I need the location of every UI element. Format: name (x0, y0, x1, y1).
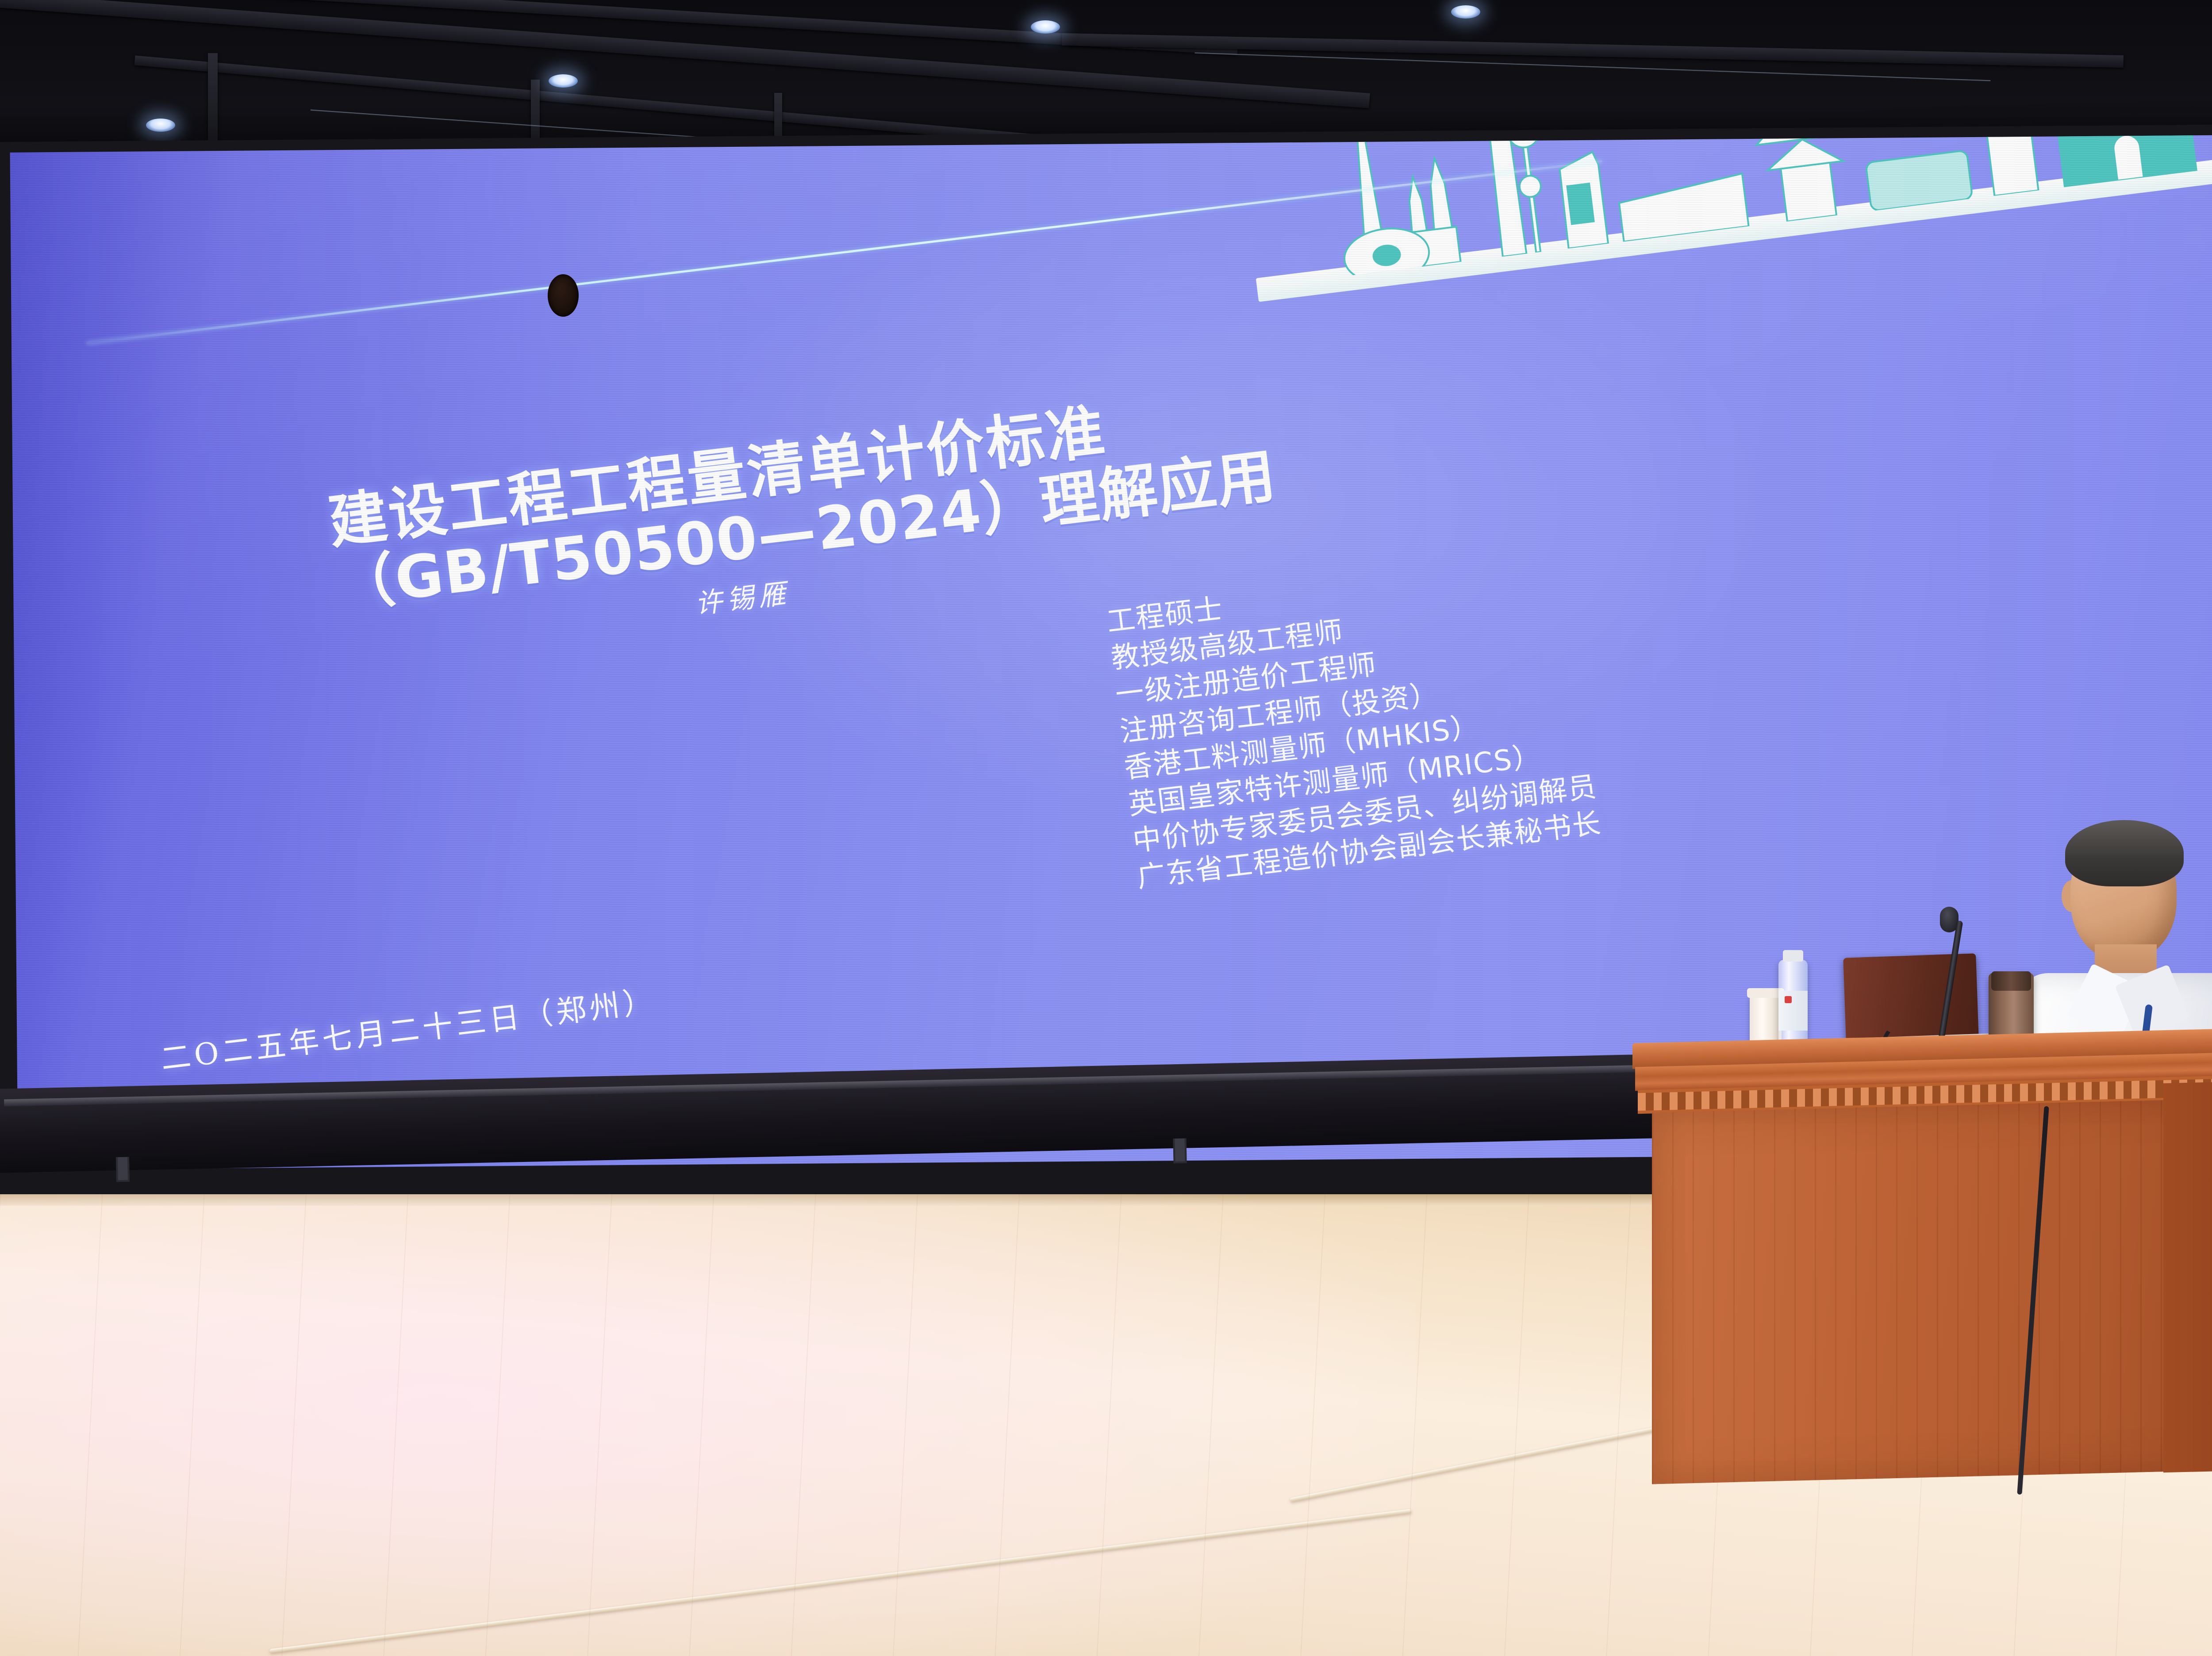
screenshot-root: 建设工程工程量清单计价标准 （GB/T50500—2024）理解应用 许锡雁 工… (0, 0, 2212, 1656)
hair (2065, 820, 2184, 886)
thermos-cap (1991, 971, 2031, 991)
ceiling-post (208, 53, 218, 155)
ceiling-spotlight (1031, 20, 1060, 34)
stage-light-wash (0, 1194, 1416, 1656)
presenter-name: 许锡雁 (692, 571, 792, 621)
screen-support-foot (116, 1157, 130, 1182)
bottle-label (1778, 991, 1808, 1031)
lectern-side-panel (2163, 1080, 2212, 1472)
bottle-cap (1783, 950, 1803, 962)
slide-date-location: 二O二五年七月二十三日（郑州） (158, 976, 659, 1078)
lectern-body (1652, 1097, 2212, 1484)
ceiling-spotlight (146, 119, 175, 132)
credentials-list: 工程硕士 教授级高级工程师 一级注册造价工程师 注册咨询工程师（投资） 香港工料… (1105, 549, 1603, 897)
ceiling-spotlight (549, 74, 578, 88)
slide-title: 建设工程工程量清单计价标准 （GB/T50500—2024）理解应用 (325, 315, 1834, 619)
wooden-lectern (1632, 1027, 2212, 1485)
lectern-cable-grommet (548, 274, 579, 317)
ceiling-spotlight (1451, 5, 1480, 19)
floor-cable (269, 1509, 1412, 1653)
screen-support-foot (1173, 1138, 1187, 1164)
